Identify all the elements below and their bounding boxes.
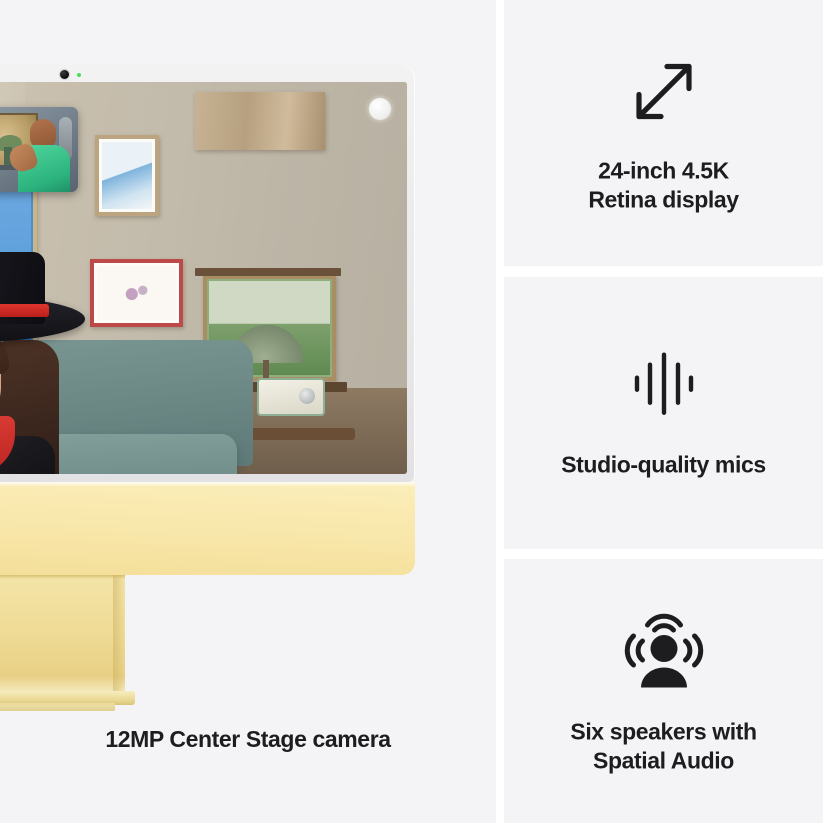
feature-tile-label: 24-inch 4.5K Retina display [588,156,738,213]
feature-caption-center-stage-camera: 12MP Center Stage camera [0,726,496,753]
imac-stand-foot [0,703,115,711]
audio-waveform-icon [627,347,701,421]
imac-screen [0,82,407,474]
feature-tile-label: Six speakers with Spatial Audio [570,717,756,774]
scene-person-child-magician [0,270,111,474]
feature-tile-label-line: 24-inch 4.5K [588,156,738,185]
imac-chin-highlight [0,482,415,487]
screen-reflection-highlight [369,98,391,120]
feature-tile-studio-quality-mics: Studio-quality mics [504,277,823,549]
feature-tile-label-line: Retina display [588,185,738,214]
webcam-icon [60,70,69,79]
scene-shelf [195,268,341,276]
spatial-audio-person-icon [621,607,707,693]
feature-tile-label: Studio-quality mics [561,451,766,480]
feature-panel-center-stage-camera: 12MP Center Stage camera [0,0,496,823]
scene-side-table [235,428,355,440]
feature-tile-spatial-audio: Six speakers with Spatial Audio [504,559,823,823]
imac-stand-neck-shadow [113,575,125,693]
wall-art-frame [95,135,159,216]
feature-tile-retina-display: 24-inch 4.5K Retina display [504,0,823,266]
video-call-picture-in-picture[interactable] [0,107,78,192]
imac-display-bezel [0,65,415,482]
expand-arrows-icon [625,52,703,130]
product-feature-grid: 12MP Center Stage camera 24-inch 4.5K Re… [0,0,823,823]
imac-top-bezel [0,65,415,82]
scene-radio [257,378,325,416]
feature-tile-label-line: Six speakers with [570,717,756,746]
feature-tile-label-line: Spatial Audio [570,746,756,775]
camera-active-indicator-icon [77,73,81,77]
imac-stand-neck-edge [0,575,125,579]
wall-art-frame [195,92,325,150]
imac-stand-neck [0,575,125,693]
imac-chin-yellow [0,482,415,575]
feature-tile-label-line: Studio-quality mics [561,451,766,480]
imac-device-illustration [0,65,415,665]
